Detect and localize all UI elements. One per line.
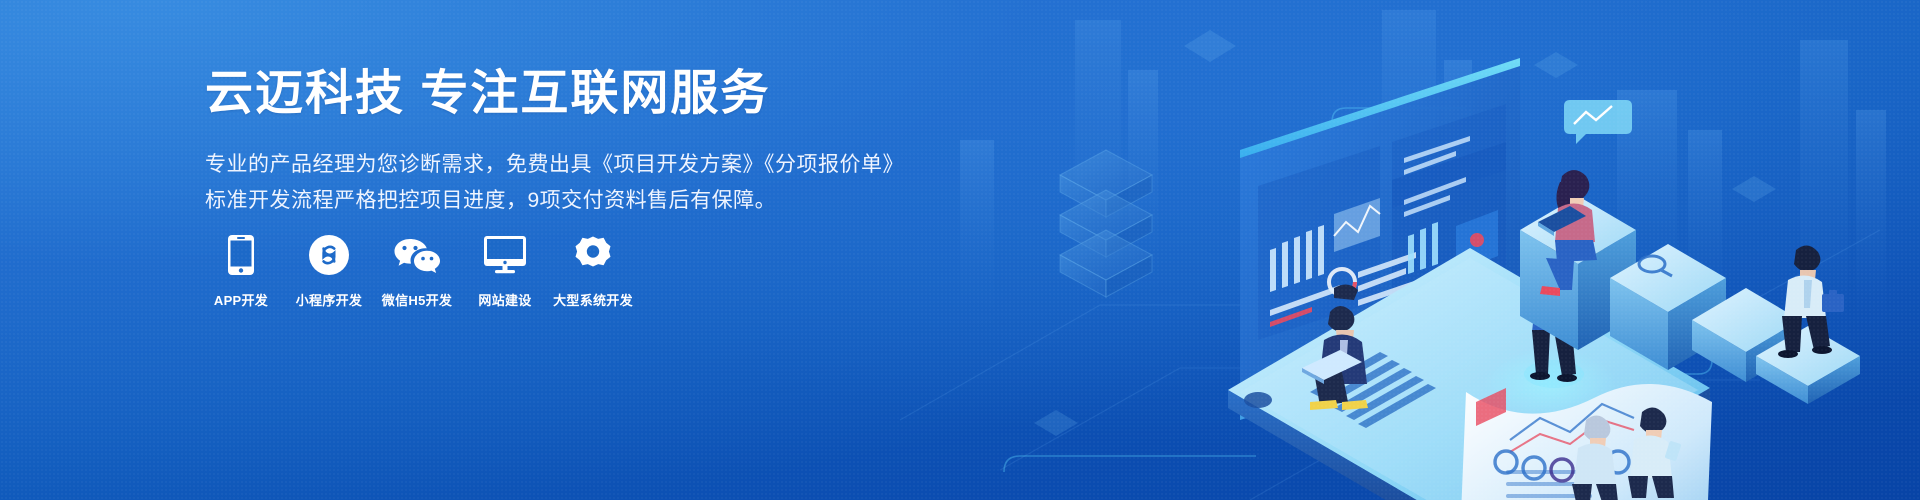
service-label: 小程序开发 (296, 290, 363, 309)
service-item-website[interactable]: 网站建设 (469, 232, 541, 309)
service-item-mini-program[interactable]: 小程序开发 (293, 232, 365, 309)
service-item-app[interactable]: APP开发 (205, 232, 277, 309)
server-stack (1060, 150, 1152, 297)
service-list: APP开发 小程序开发 (205, 232, 629, 309)
chat-bubble (1564, 100, 1632, 144)
mobile-phone-icon (228, 232, 254, 278)
service-label: 微信H5开发 (382, 290, 452, 309)
service-item-system[interactable]: 大型系统开发 (557, 232, 629, 309)
service-item-wechat[interactable]: 微信H5开发 (381, 232, 453, 309)
gear-icon (573, 232, 613, 278)
service-label: APP开发 (214, 290, 268, 309)
monitor-icon (484, 232, 526, 278)
hero-banner: 云迈科技 专注互联网服务 专业的产品经理为您诊断需求，免费出具《项目开发方案》《… (0, 0, 1920, 500)
hero-illustration (910, 0, 1920, 500)
subtitle-line-1: 专业的产品经理为您诊断需求，免费出具《项目开发方案》《分项报价单》 (205, 147, 905, 183)
subtitle-line-2: 标准开发流程严格把控项目进度，9项交付资料售后有保障。 (205, 183, 905, 219)
service-label: 大型系统开发 (553, 290, 633, 309)
banner-copy: 云迈科技 专注互联网服务 专业的产品经理为您诊断需求，免费出具《项目开发方案》《… (205, 66, 905, 219)
mini-program-icon (309, 232, 349, 278)
service-label: 网站建设 (478, 290, 531, 309)
page-title: 云迈科技 专注互联网服务 (205, 66, 905, 121)
wechat-icon (393, 232, 441, 278)
banner-subtitle: 专业的产品经理为您诊断需求，免费出具《项目开发方案》《分项报价单》 标准开发流程… (205, 147, 905, 219)
